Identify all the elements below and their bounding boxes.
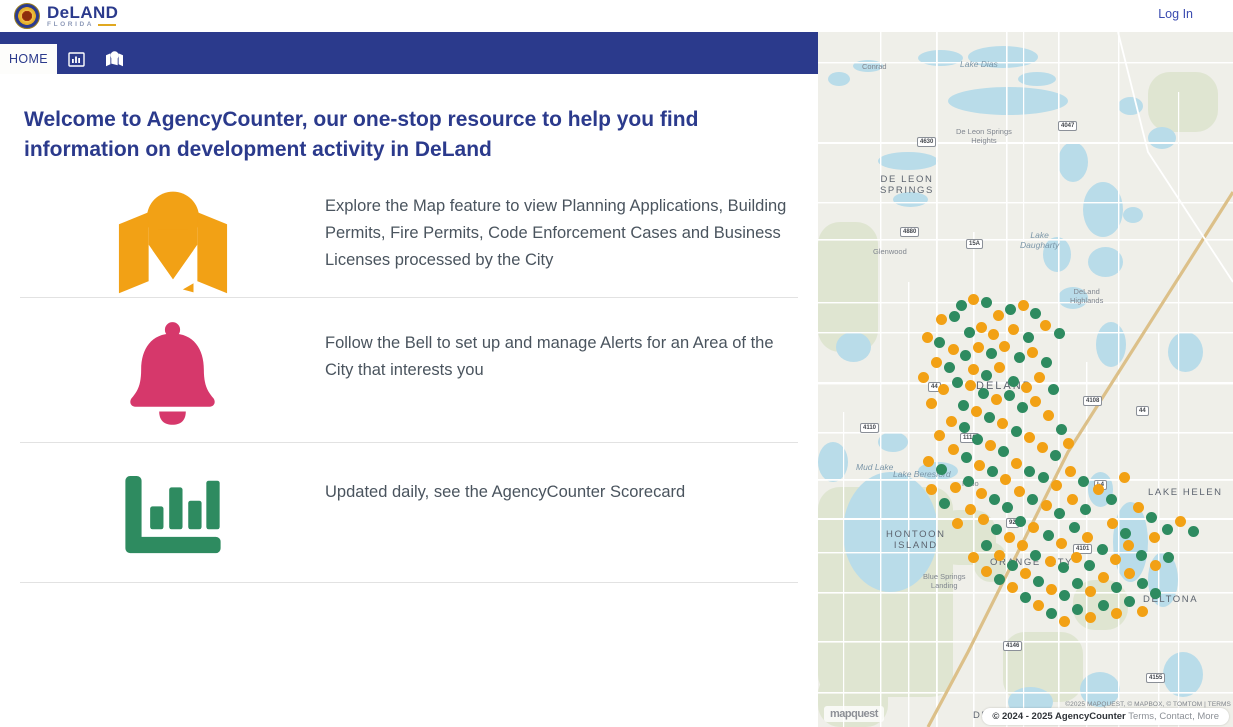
map-permit-dot[interactable]	[1149, 532, 1160, 543]
map-permit-dot[interactable]	[964, 327, 975, 338]
map-permit-dot[interactable]	[1007, 560, 1018, 571]
map-marker-icon	[105, 51, 124, 67]
map-permit-dot[interactable]	[965, 504, 976, 515]
map-permit-dot[interactable]	[1017, 402, 1028, 413]
map-permit-dot[interactable]	[948, 444, 959, 455]
map-permit-dot[interactable]	[1123, 540, 1134, 551]
map-permit-dot[interactable]	[1111, 608, 1122, 619]
map-permit-dot[interactable]	[1085, 586, 1096, 597]
map-permit-dot[interactable]	[1056, 538, 1067, 549]
map-permit-dot[interactable]	[1023, 332, 1034, 343]
feature-icon-cell	[20, 465, 325, 555]
map-permit-dot[interactable]	[1021, 382, 1032, 393]
map-permit-dot[interactable]	[1137, 606, 1148, 617]
route-shield: 4630	[917, 137, 936, 147]
map-permit-dot[interactable]	[1046, 608, 1057, 619]
map-permit-dot[interactable]	[1011, 458, 1022, 469]
main-navigation-bar: HOME	[0, 32, 818, 74]
map-permit-dot[interactable]	[1059, 590, 1070, 601]
map-provider-attribution: ©2025 MAPQUEST, © MAPBOX, © TOMTOM | TER…	[1065, 701, 1231, 708]
map-permit-dot[interactable]	[922, 332, 933, 343]
map-permit-dot[interactable]	[1004, 532, 1015, 543]
map-permit-dot[interactable]	[981, 540, 992, 551]
map-permit-dot[interactable]	[981, 370, 992, 381]
map-permit-dot[interactable]	[1084, 560, 1095, 571]
map-permit-dot[interactable]	[1058, 562, 1069, 573]
map-permit-dot[interactable]	[972, 434, 983, 445]
map-permit-dot[interactable]	[1005, 304, 1016, 315]
map-permit-dot[interactable]	[1037, 442, 1048, 453]
map-permit-dot[interactable]	[1000, 474, 1011, 485]
map-permit-dot[interactable]	[1046, 584, 1057, 595]
map-pin-icon	[117, 187, 229, 297]
feature-text-bell: Follow the Bell to set up and manage Ale…	[325, 314, 798, 384]
map-permit-dot[interactable]	[952, 377, 963, 388]
city-seal-icon	[14, 3, 40, 29]
map-permit-dot[interactable]	[1008, 376, 1019, 387]
route-shield: 4047	[1058, 121, 1077, 131]
map-permit-dot[interactable]	[993, 310, 1004, 321]
feature-text-scorecard: Updated daily, see the AgencyCounter Sco…	[325, 465, 695, 506]
map-permit-dot[interactable]	[1093, 484, 1104, 495]
map-permit-dot[interactable]	[934, 337, 945, 348]
map-permit-dot[interactable]	[1106, 494, 1117, 505]
map-permit-dot[interactable]	[1020, 592, 1031, 603]
map-permit-dot[interactable]	[1045, 556, 1056, 567]
map-permit-dot[interactable]	[1041, 500, 1052, 511]
map-permit-dot[interactable]	[991, 524, 1002, 535]
logo-wordmark: DeLAND FLORIDA	[47, 4, 118, 29]
attribution-copyright: © 2024 - 2025 AgencyCounter	[992, 711, 1125, 722]
route-shield: 44	[1136, 406, 1149, 416]
map-permit-dot[interactable]	[931, 357, 942, 368]
feature-row-map: Explore the Map feature to view Planning…	[20, 165, 798, 298]
map-permit-dot[interactable]	[968, 552, 979, 563]
map-permit-dot[interactable]	[1150, 588, 1161, 599]
map-permit-dot[interactable]	[1033, 600, 1044, 611]
map-permit-dot[interactable]	[978, 514, 989, 525]
map-permit-dot[interactable]	[1043, 530, 1054, 541]
map-permit-dot[interactable]	[1054, 328, 1065, 339]
map-permit-dot[interactable]	[973, 342, 984, 353]
map-permit-dot[interactable]	[1136, 550, 1147, 561]
feature-icon-cell	[20, 187, 325, 297]
map-permit-dot[interactable]	[963, 476, 974, 487]
map-permit-dot[interactable]	[1098, 572, 1109, 583]
map-permit-dot[interactable]	[1163, 552, 1174, 563]
map-permit-dot[interactable]	[1024, 432, 1035, 443]
map-permit-dot[interactable]	[948, 344, 959, 355]
map-permit-dot[interactable]	[965, 380, 976, 391]
logo-accent-dash	[98, 24, 116, 26]
map-permit-dot[interactable]	[984, 412, 995, 423]
map-permit-dot[interactable]	[1017, 540, 1028, 551]
map-permit-dot[interactable]	[981, 297, 992, 308]
route-shield: 4110	[860, 423, 879, 433]
nav-tab-scorecard[interactable]	[57, 44, 95, 74]
map-permit-dot[interactable]	[987, 466, 998, 477]
map-permit-dot[interactable]	[1085, 612, 1096, 623]
chart-icon	[68, 52, 85, 67]
map-permit-dot[interactable]	[959, 422, 970, 433]
map-permit-dot[interactable]	[989, 494, 1000, 505]
map-permit-dot[interactable]	[998, 446, 1009, 457]
map-permit-dot[interactable]	[991, 394, 1002, 405]
map-permit-dot[interactable]	[1124, 596, 1135, 607]
map-permit-dot[interactable]	[1007, 582, 1018, 593]
map-permit-dot[interactable]	[1018, 300, 1029, 311]
map-permit-dot[interactable]	[1067, 494, 1078, 505]
mapquest-logo: mapquest	[824, 706, 884, 722]
bar-chart-icon	[123, 475, 223, 555]
map-canvas[interactable]: ConradLake DiasDe Leon Springs HeightsDE…	[818, 32, 1233, 727]
map-permit-dot[interactable]	[1124, 568, 1135, 579]
map-permit-dot[interactable]	[1034, 372, 1045, 383]
map-permit-dot[interactable]	[994, 362, 1005, 373]
map-permit-dot[interactable]	[976, 322, 987, 333]
map-permit-dot[interactable]	[918, 372, 929, 383]
map-permit-dot[interactable]	[1030, 550, 1041, 561]
map-permit-dot[interactable]	[976, 488, 987, 499]
nav-tab-home[interactable]: HOME	[0, 44, 57, 74]
map-permit-dot[interactable]	[999, 341, 1010, 352]
map-permit-dot[interactable]	[1027, 494, 1038, 505]
map-permit-dot[interactable]	[961, 452, 972, 463]
map-permit-dot[interactable]	[934, 430, 945, 441]
map-permit-dot[interactable]	[1137, 578, 1148, 589]
map-permit-dot[interactable]	[1050, 450, 1061, 461]
map-permit-dot[interactable]	[1033, 576, 1044, 587]
map-permit-dot[interactable]	[974, 460, 985, 471]
route-shield: 4155	[1146, 673, 1165, 683]
map-permit-dot[interactable]	[968, 294, 979, 305]
feature-text-map: Explore the Map feature to view Planning…	[325, 187, 798, 274]
top-header-bar: DeLAND FLORIDA Log In	[0, 0, 1233, 32]
map-permit-dot[interactable]	[1175, 516, 1186, 527]
nav-tab-map[interactable]	[95, 44, 133, 74]
map-panel[interactable]: ConradLake DiasDe Leon Springs HeightsDE…	[818, 32, 1233, 727]
map-permit-dot[interactable]	[1063, 438, 1074, 449]
site-logo[interactable]: DeLAND FLORIDA	[14, 3, 118, 29]
map-permit-dot[interactable]	[958, 400, 969, 411]
map-permit-dot[interactable]	[997, 418, 1008, 429]
map-permit-dot[interactable]	[1028, 522, 1039, 533]
map-permit-dot[interactable]	[1133, 502, 1144, 513]
map-permit-dot[interactable]	[1119, 472, 1130, 483]
map-permit-dot[interactable]	[939, 498, 950, 509]
map-permit-dot[interactable]	[960, 350, 971, 361]
home-content-panel: Welcome to AgencyCounter, our one-stop r…	[0, 74, 818, 727]
map-permit-dot[interactable]	[1004, 390, 1015, 401]
map-permit-dot[interactable]	[1038, 472, 1049, 483]
feature-row-bell: Follow the Bell to set up and manage Ale…	[20, 298, 798, 443]
route-shield: 4146	[1003, 641, 1022, 651]
agencycounter-attribution[interactable]: © 2024 - 2025 AgencyCounter Terms, Conta…	[982, 708, 1229, 725]
feature-icon-cell	[20, 314, 325, 425]
map-permit-dot[interactable]	[1069, 522, 1080, 533]
map-permit-dot[interactable]	[978, 388, 989, 399]
page-title: Welcome to AgencyCounter, our one-stop r…	[24, 105, 784, 165]
map-permit-dot[interactable]	[981, 566, 992, 577]
map-permit-dot[interactable]	[952, 518, 963, 529]
nav-tab-home-label: HOME	[9, 52, 48, 66]
map-permit-dot[interactable]	[1024, 466, 1035, 477]
map-permit-dot[interactable]	[1111, 582, 1122, 593]
map-permit-dot[interactable]	[1082, 532, 1093, 543]
map-permit-dot[interactable]	[994, 550, 1005, 561]
map-permit-dot[interactable]	[1162, 524, 1173, 535]
map-permit-dot[interactable]	[923, 456, 934, 467]
map-permit-dot[interactable]	[1008, 324, 1019, 335]
map-permit-dot[interactable]	[1030, 396, 1041, 407]
map-permit-dot[interactable]	[971, 406, 982, 417]
map-permit-dot[interactable]	[1041, 357, 1052, 368]
map-permit-dot[interactable]	[1040, 320, 1051, 331]
attribution-links[interactable]: Terms, Contact, More	[1128, 711, 1219, 722]
map-permit-dot[interactable]	[956, 300, 967, 311]
map-permit-dot[interactable]	[1107, 518, 1118, 529]
map-permit-dot[interactable]	[1015, 516, 1026, 527]
feature-row-scorecard: Updated daily, see the AgencyCounter Sco…	[20, 443, 798, 583]
map-permit-dot[interactable]	[1051, 480, 1062, 491]
map-permit-dot[interactable]	[1188, 526, 1199, 537]
map-permit-dot[interactable]	[1014, 486, 1025, 497]
map-permit-dot[interactable]	[1120, 528, 1131, 539]
map-permit-dot[interactable]	[1110, 554, 1121, 565]
map-permit-dot[interactable]	[944, 362, 955, 373]
map-permit-dot[interactable]	[1080, 504, 1091, 515]
map-permit-dot[interactable]	[1002, 502, 1013, 513]
map-permit-dot[interactable]	[1065, 466, 1076, 477]
map-permit-dot[interactable]	[968, 364, 979, 375]
map-permit-dot[interactable]	[1027, 347, 1038, 358]
map-permit-dot[interactable]	[950, 482, 961, 493]
map-permit-dot[interactable]	[1014, 352, 1025, 363]
map-permit-dot[interactable]	[1054, 508, 1065, 519]
route-shield: 15A	[966, 239, 983, 249]
map-permit-dot[interactable]	[988, 329, 999, 340]
map-permit-dot[interactable]	[985, 440, 996, 451]
map-permit-dot[interactable]	[1078, 476, 1089, 487]
map-permit-dot[interactable]	[1048, 384, 1059, 395]
logo-state-name: FLORIDA	[47, 22, 94, 29]
login-link[interactable]: Log In	[1158, 7, 1193, 21]
bell-icon	[125, 320, 220, 425]
map-permit-dot[interactable]	[1059, 616, 1070, 627]
map-permit-dot[interactable]	[946, 416, 957, 427]
map-permit-dot[interactable]	[936, 464, 947, 475]
map-permit-dot[interactable]	[1071, 552, 1082, 563]
map-permit-dot[interactable]	[1072, 604, 1083, 615]
map-permit-dot[interactable]	[926, 398, 937, 409]
map-permit-dot[interactable]	[986, 348, 997, 359]
map-permit-dot[interactable]	[1020, 568, 1031, 579]
logo-city-name: DeLAND	[47, 4, 118, 21]
map-permit-dot[interactable]	[994, 574, 1005, 585]
map-permit-dot[interactable]	[1097, 544, 1108, 555]
map-permit-dot[interactable]	[938, 384, 949, 395]
map-permit-dot[interactable]	[936, 314, 947, 325]
map-permit-dot[interactable]	[949, 311, 960, 322]
map-permit-dot[interactable]	[1150, 560, 1161, 571]
route-shield: 4880	[900, 227, 919, 237]
map-permit-dot[interactable]	[1030, 308, 1041, 319]
route-shield: 4108	[1083, 396, 1102, 406]
map-permit-dot[interactable]	[1072, 578, 1083, 589]
map-permit-dot[interactable]	[1146, 512, 1157, 523]
map-permit-dot[interactable]	[1098, 600, 1109, 611]
map-permit-dot[interactable]	[926, 484, 937, 495]
map-permit-dot[interactable]	[1056, 424, 1067, 435]
map-permit-dot[interactable]	[1011, 426, 1022, 437]
map-permit-dot[interactable]	[1043, 410, 1054, 421]
